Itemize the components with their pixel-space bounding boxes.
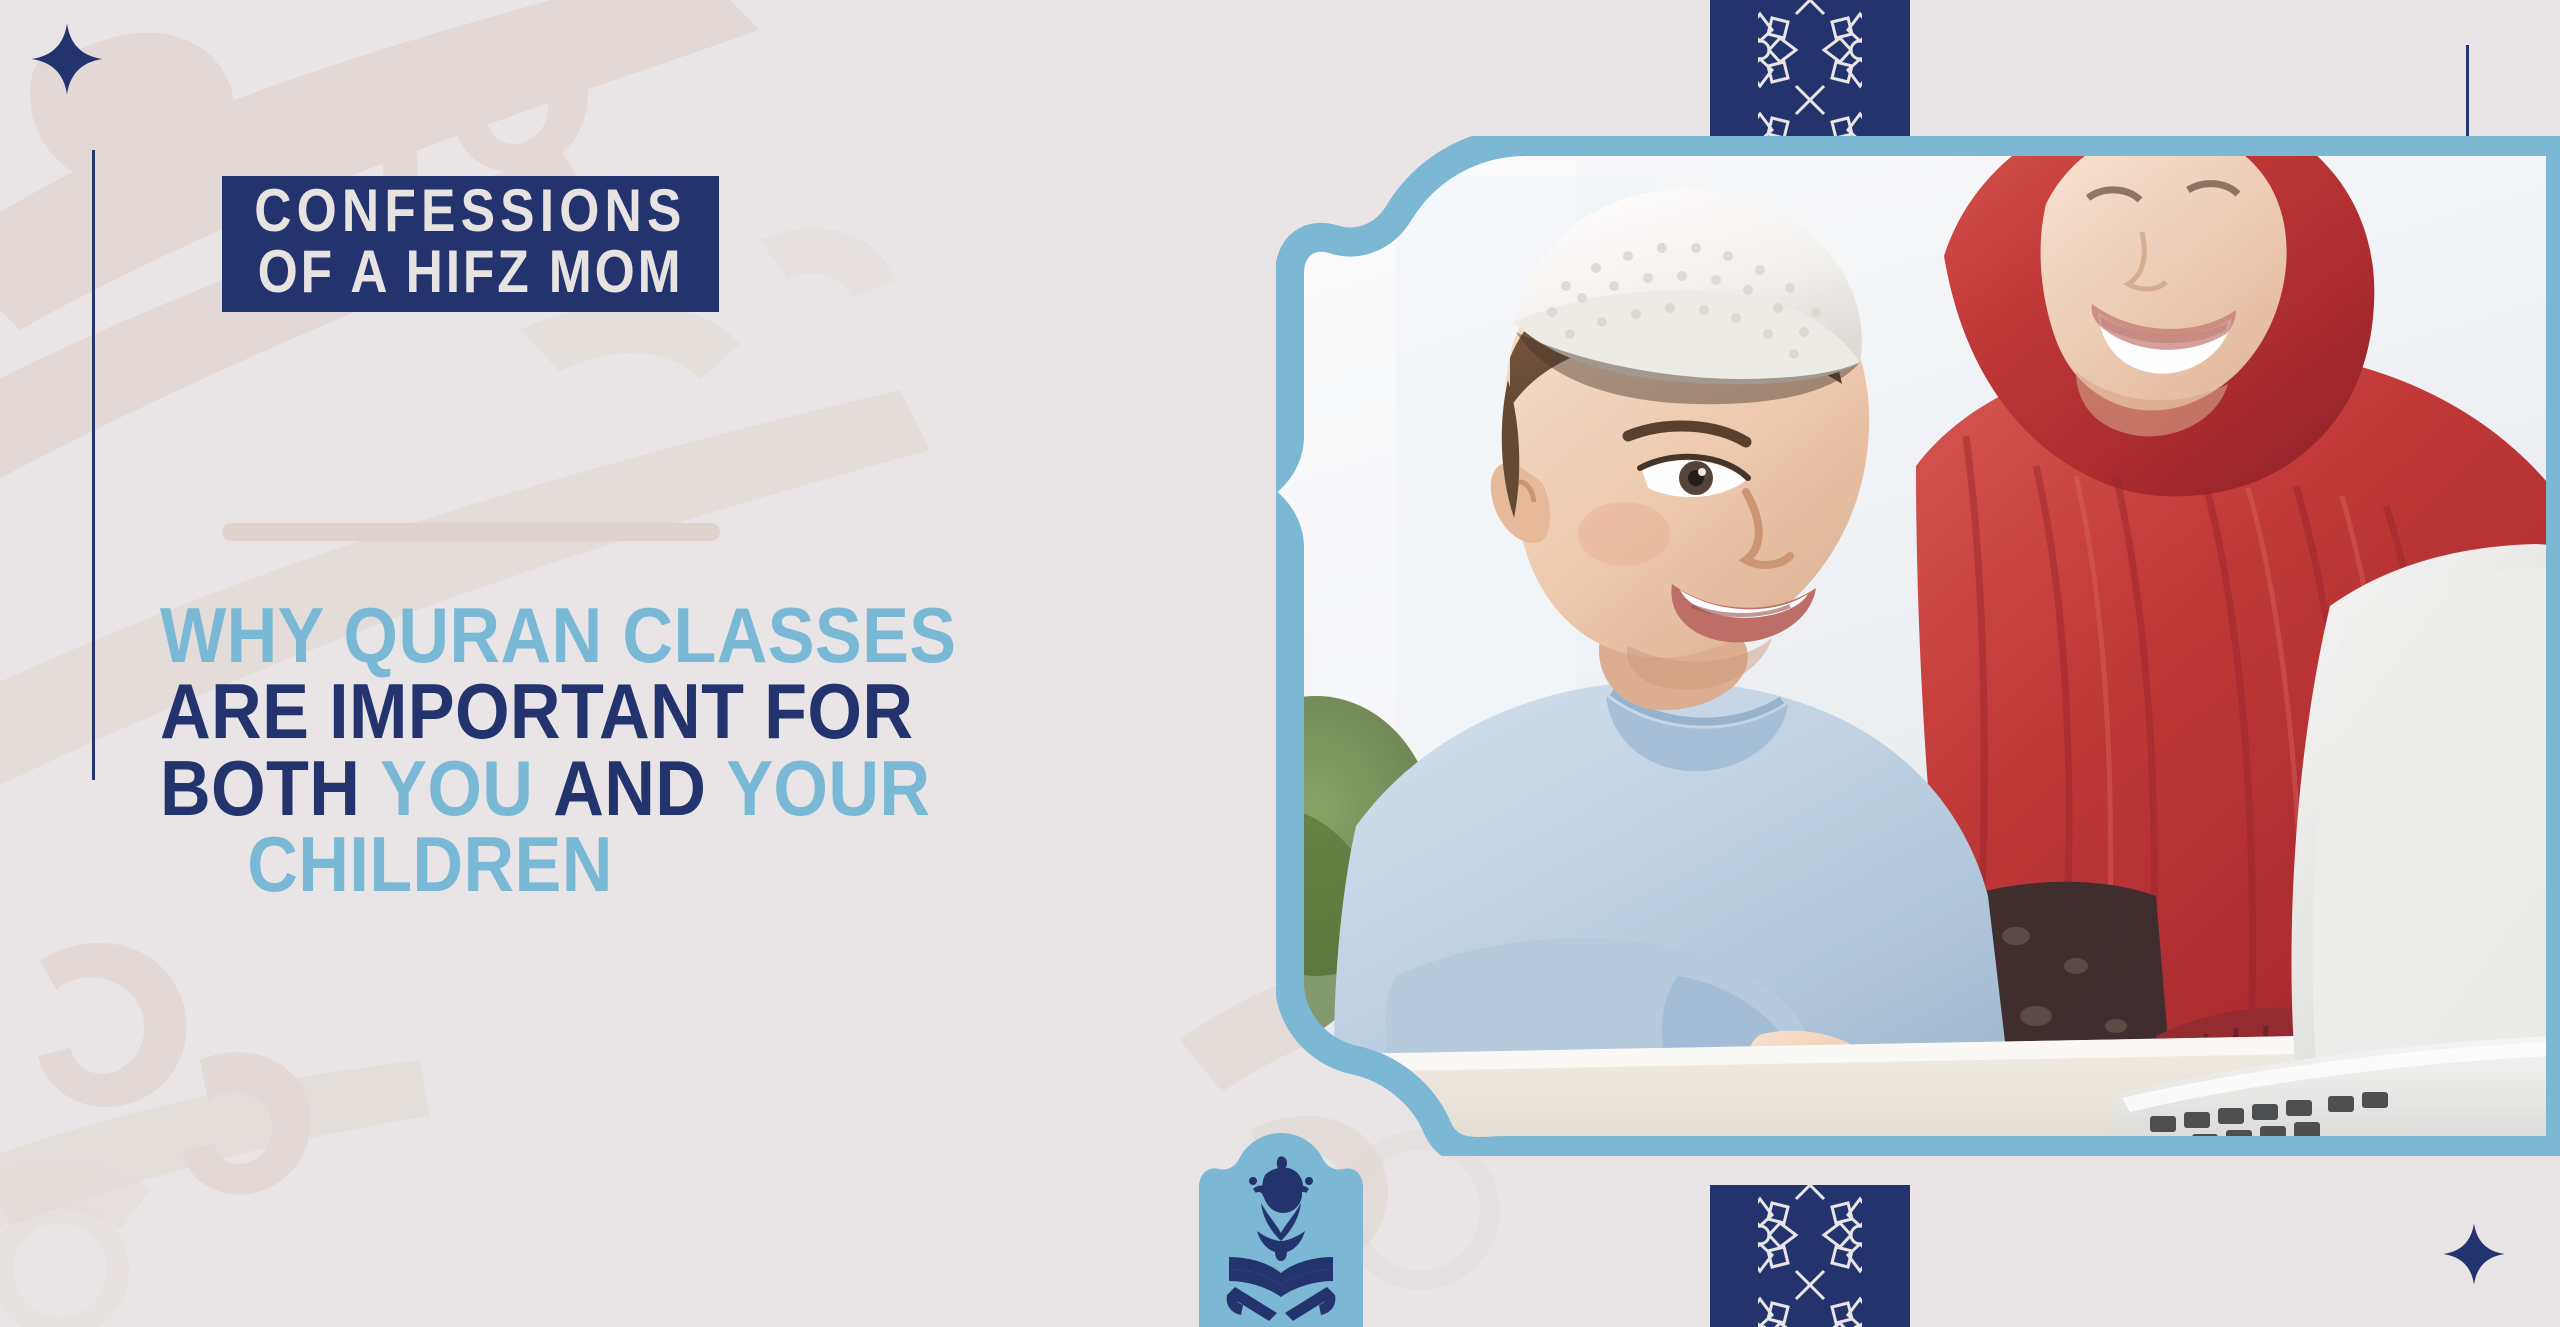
- subheading-word-you: YOU: [380, 744, 533, 832]
- mother-and-son-at-laptop-photo: [1276, 136, 2560, 1156]
- title-line-1: CONFESSIONS: [254, 182, 686, 241]
- horizontal-rounded-divider: [222, 523, 720, 541]
- thin-vertical-rule-left: [92, 150, 95, 780]
- title-line-2: OF A HIFZ MOM: [258, 243, 684, 302]
- four-point-star-icon-bottom-right: [2442, 1222, 2506, 1286]
- subheading-word-and: AND: [553, 744, 706, 832]
- subheading-line-1: WHY QURAN CLASSES: [160, 597, 700, 673]
- poster-canvas: CONFESSIONS OF A HIFZ MOM WHY QURAN CLAS…: [0, 0, 2560, 1327]
- subheading-block: WHY QURAN CLASSES ARE IMPORTANT FOR BOTH…: [130, 597, 730, 903]
- islamic-geometric-pattern-bottom: [1710, 1185, 1910, 1327]
- quran-academy-logo: [1191, 1133, 1371, 1327]
- subheading-line-2: ARE IMPORTANT FOR: [160, 673, 700, 749]
- subheading-line-4: CHILDREN: [160, 826, 700, 902]
- subheading-word-both: BOTH: [160, 744, 360, 832]
- thin-vertical-rule-right: [2466, 45, 2469, 140]
- subheading-line-3: BOTH YOU AND YOUR: [160, 750, 700, 826]
- four-point-star-icon-top-left: [30, 22, 104, 96]
- photo-card: [1276, 136, 2560, 1156]
- subheading-word-your: YOUR: [726, 744, 930, 832]
- title-banner: CONFESSIONS OF A HIFZ MOM: [222, 176, 719, 312]
